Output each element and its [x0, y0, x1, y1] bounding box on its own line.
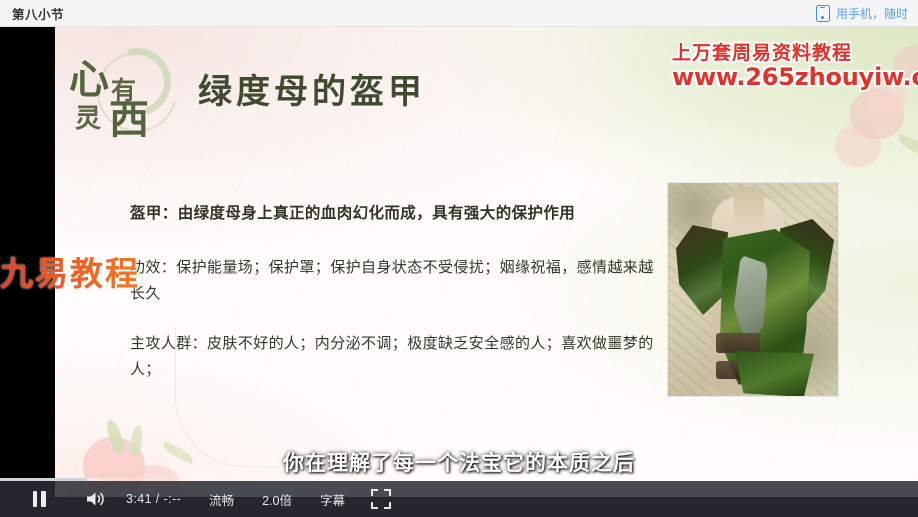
mobile-phone-icon [816, 5, 830, 22]
video-player-page: 第八小节 用手机，随时 [0, 0, 918, 517]
time-display: 3:41 / -:-- [126, 492, 181, 506]
armor-photo [667, 182, 839, 397]
logo-char-4: 西 [109, 100, 149, 140]
page-header: 第八小节 用手机，随时 [0, 0, 918, 27]
paragraph-effects: 功效：保护能量场；保护罩；保护自身状态不受侵扰；姻缘祝福，感情越来越长久 [130, 255, 655, 307]
slide-title: 绿度母的盔甲 [198, 75, 426, 109]
brand-logo: 心 有 灵 西 [67, 42, 187, 147]
watermark-left: 九易教程 [0, 257, 140, 290]
armor-belt-upper [716, 333, 760, 353]
paragraph-audience: 主攻人群：皮肤不好的人；内分泌不调；极度缺乏安全感的人；喜欢做噩梦的人； [130, 331, 655, 383]
lesson-title: 第八小节 [12, 4, 64, 23]
fullscreen-button[interactable] [371, 489, 391, 509]
watermark-line-1: 上万套周易资料教程 [672, 43, 918, 64]
slide-canvas: 心 有 灵 西 绿度母的盔甲 盔甲：由绿度母身上真正的血肉幻化而成，具有强大的保… [55, 27, 918, 497]
volume-icon [85, 490, 105, 508]
speed-button[interactable]: 2.0倍 [262, 490, 292, 509]
video-subtitle: 你在理解了每一个法宝它的本质之后 [0, 447, 918, 477]
captions-button[interactable]: 字幕 [320, 490, 345, 509]
mobile-promo-label: 用手机，随时 [836, 5, 908, 22]
pause-button[interactable] [22, 481, 56, 517]
fullscreen-icon [371, 489, 378, 496]
video-stage[interactable]: 心 有 灵 西 绿度母的盔甲 盔甲：由绿度母身上真正的血肉幻化而成，具有强大的保… [0, 27, 918, 517]
logo-char-1: 心 [69, 60, 109, 100]
mobile-promo[interactable]: 用手机，随时 [816, 5, 908, 22]
pause-icon [33, 491, 46, 507]
mannequin-neck [734, 187, 764, 227]
slide-body: 盔甲：由绿度母身上真正的血肉幻化而成，具有强大的保护作用 功效：保护能量场；保护… [130, 202, 655, 406]
progress-played [0, 478, 87, 481]
watermark-top-right: 上万套周易资料教程 www.265zhouyiw.com [672, 43, 918, 91]
progress-bar[interactable] [0, 478, 918, 481]
paragraph-definition: 盔甲：由绿度母身上真正的血肉幻化而成，具有强大的保护作用 [130, 202, 655, 225]
player-controls: 3:41 / -:-- 流畅 2.0倍 字幕 [0, 481, 918, 517]
volume-button[interactable] [78, 481, 112, 517]
watermark-line-2: www.265zhouyiw.com [672, 64, 918, 91]
logo-char-3: 灵 [75, 106, 101, 132]
quality-button[interactable]: 流畅 [209, 490, 234, 509]
